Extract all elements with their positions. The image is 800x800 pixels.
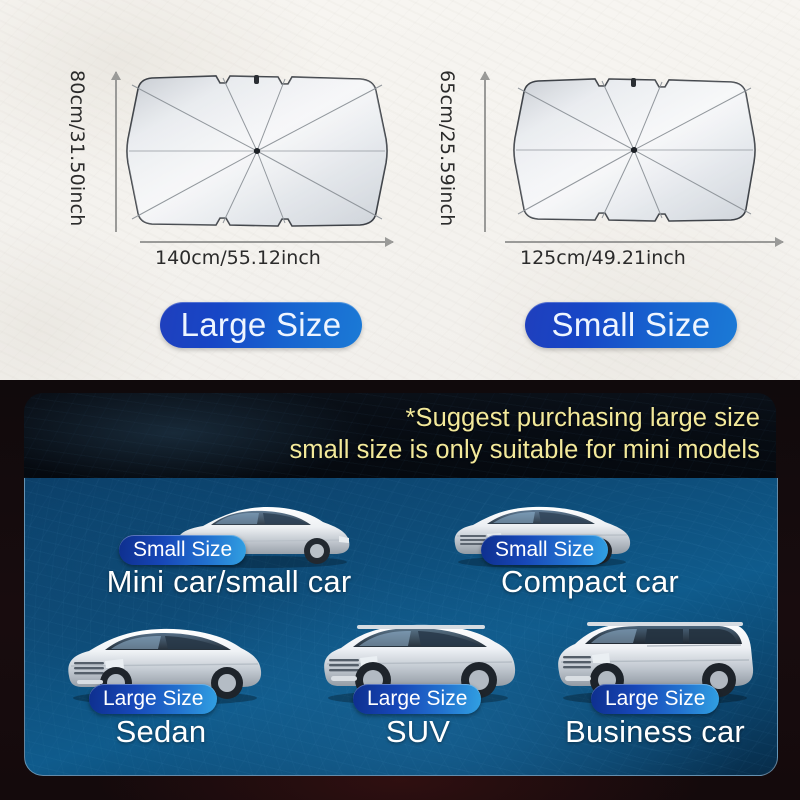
small-size-badge[interactable]: Small Size <box>525 302 737 348</box>
product-infographic: 80cm/31.50inch <box>0 0 800 800</box>
small-height-arrow <box>484 72 486 232</box>
sedan-caption: Sedan <box>27 714 295 750</box>
vehicle-card-suv[interactable]: Large Size SUV <box>305 614 531 764</box>
sizes-section: 80cm/31.50inch <box>0 0 800 392</box>
large-sunshade-image <box>118 73 396 229</box>
business-car-caption: Business car <box>535 714 775 750</box>
suggestion-banner: *Suggest purchasing large size small siz… <box>24 393 776 478</box>
business-size-badge[interactable]: Large Size <box>591 684 719 714</box>
large-width-label: 140cm/55.12inch <box>155 247 321 269</box>
small-sunshade-image <box>505 76 763 224</box>
large-height-label: 80cm/31.50inch <box>66 70 88 227</box>
large-size-badge[interactable]: Large Size <box>160 302 362 348</box>
vehicle-card-compact[interactable]: Small Size Compact car <box>425 486 755 604</box>
mini-car-caption: Mini car/small car <box>53 564 405 600</box>
vehicle-card-sedan[interactable]: Large Size Sedan <box>27 614 295 764</box>
compact-size-badge[interactable]: Small Size <box>481 535 608 565</box>
small-width-arrow <box>505 241 783 243</box>
compact-car-caption: Compact car <box>425 564 755 600</box>
suggestion-line-2: small size is only suitable for mini mod… <box>289 434 760 466</box>
large-height-arrow <box>115 72 117 232</box>
compatibility-section: *Suggest purchasing large size small siz… <box>0 380 800 800</box>
large-width-arrow <box>140 241 393 243</box>
sedan-size-badge[interactable]: Large Size <box>89 684 217 714</box>
suggestion-line-1: *Suggest purchasing large size <box>289 402 760 434</box>
suggestion-text: *Suggest purchasing large size small siz… <box>289 402 760 466</box>
vehicle-card-business[interactable]: Large Size Business car <box>535 614 775 764</box>
vehicle-card-mini[interactable]: Small Size Mini car/small car <box>53 486 405 604</box>
vehicle-grid-panel: Small Size Mini car/small car <box>24 478 778 776</box>
small-width-label: 125cm/49.21inch <box>520 247 686 269</box>
mini-size-badge[interactable]: Small Size <box>119 535 246 565</box>
suv-size-badge[interactable]: Large Size <box>353 684 481 714</box>
small-height-label: 65cm/25.59inch <box>436 70 458 227</box>
suv-caption: SUV <box>305 714 531 750</box>
